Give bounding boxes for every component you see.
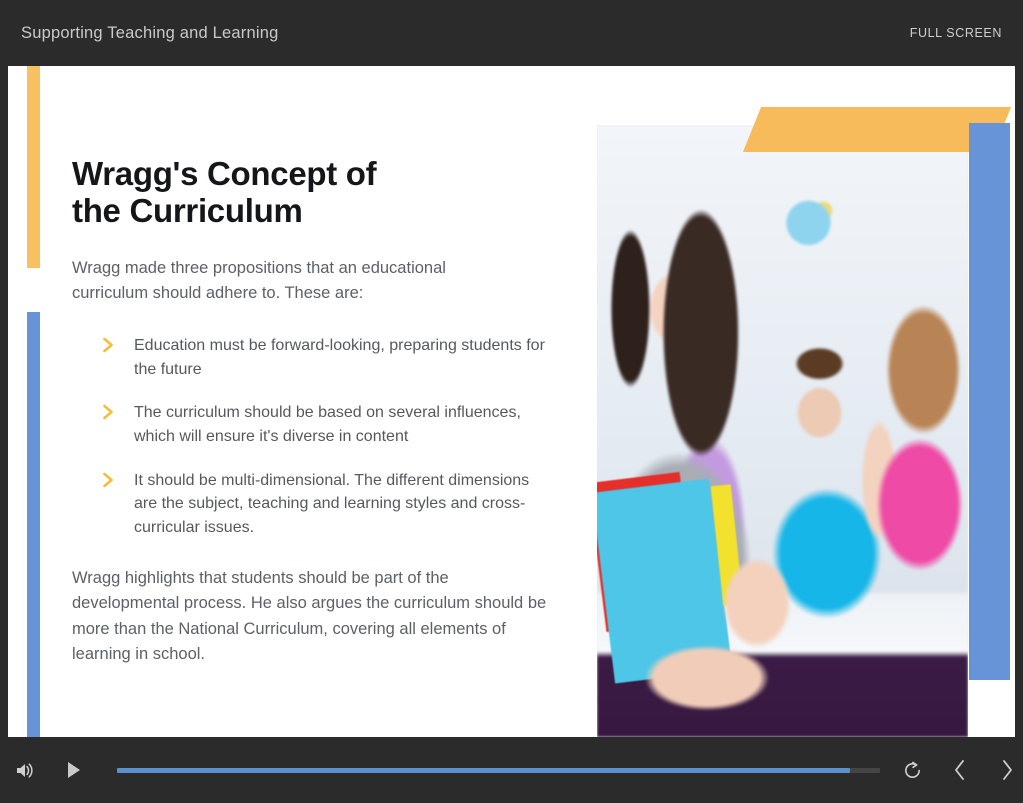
chevron-left-icon[interactable] — [943, 753, 976, 787]
fullscreen-button[interactable]: FULL SCREEN — [910, 26, 1002, 40]
player-header: Supporting Teaching and Learning FULL SC… — [0, 0, 1023, 66]
chevron-right-icon — [100, 469, 116, 491]
chevron-right-icon[interactable] — [990, 753, 1023, 787]
slide-outro-paragraph: Wragg highlights that students should be… — [72, 566, 550, 668]
chevron-right-icon — [100, 334, 116, 356]
slide-stage: Wragg's Concept of the Curriculum Wragg … — [8, 66, 1015, 737]
progress-bar-fill — [117, 768, 850, 773]
player-controls — [0, 737, 1023, 803]
list-item-label: The curriculum should be based on severa… — [134, 401, 554, 448]
progress-bar[interactable] — [117, 768, 881, 773]
speaker-volume-icon[interactable] — [8, 753, 41, 787]
list-item: Education must be forward-looking, prepa… — [100, 334, 572, 381]
decor-bar-orange-left — [27, 66, 40, 268]
decor-bar-blue-left — [27, 312, 40, 737]
list-item: The curriculum should be based on severa… — [100, 401, 572, 448]
slide-title: Wragg's Concept of the Curriculum — [72, 156, 432, 230]
play-icon[interactable] — [58, 753, 91, 787]
page-title: Supporting Teaching and Learning — [21, 24, 278, 43]
list-item-label: Education must be forward-looking, prepa… — [134, 334, 554, 381]
chevron-right-icon — [100, 401, 116, 423]
slide-text-column: Wragg's Concept of the Curriculum Wragg … — [72, 156, 572, 668]
slide-bullet-list: Education must be forward-looking, prepa… — [100, 334, 572, 540]
replay-icon[interactable] — [896, 753, 929, 787]
slide-intro-paragraph: Wragg made three propositions that an ed… — [72, 256, 482, 306]
course-player: Supporting Teaching and Learning FULL SC… — [0, 0, 1023, 803]
slide-photo — [597, 125, 968, 737]
list-item: It should be multi-dimensional. The diff… — [100, 469, 572, 540]
list-item-label: It should be multi-dimensional. The diff… — [134, 469, 554, 540]
photo-hand-lower — [627, 635, 787, 721]
decor-bar-blue-right — [969, 123, 1010, 680]
